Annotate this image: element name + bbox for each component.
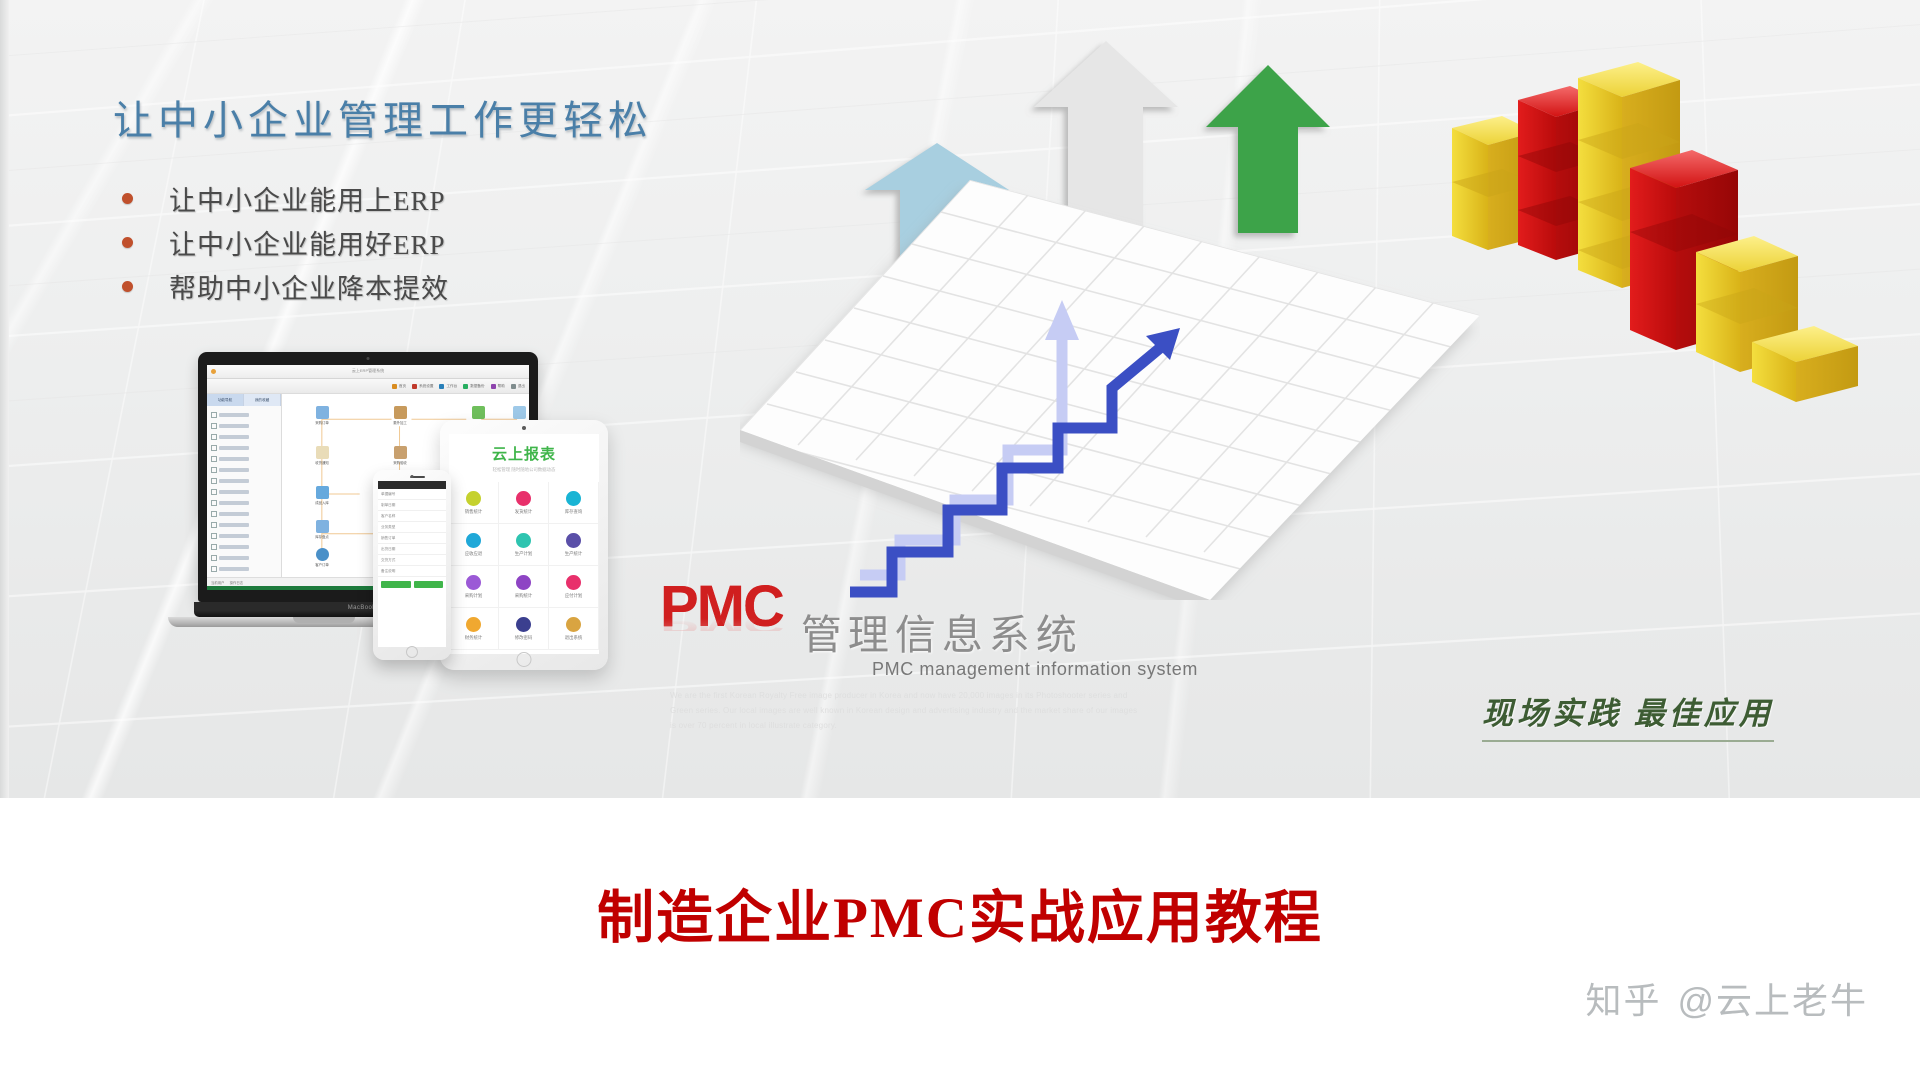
tree-node[interactable] [211,530,281,541]
tree-node[interactable] [211,475,281,486]
phone-mockup: 单据编号 制单日期 客户名称 业务类型 销售订单 出货日期 交货方式 备注说明 [373,470,451,660]
flow-node: 成品入库 [313,486,331,505]
pmc-logo-row: PMC PMC 管理信息系统 [660,580,1198,665]
pmc-fineprint: We are the first Korean Royalty Free ima… [670,688,1140,733]
tablet-tile[interactable]: 生产统计 [549,524,599,566]
phone-form-row[interactable]: 备注说明 [378,566,446,577]
tablet-tile[interactable]: 生产计划 [499,524,549,566]
foot-item: 操作日志 [230,580,244,585]
bullet-label: 让中小企业能用上ERP [169,179,446,218]
slide-left-edge [0,0,9,798]
pmc-logo-block: PMC PMC 管理信息系统 PMC management informatio… [660,580,1198,680]
tablet-tile[interactable]: 应收应退 [449,524,499,566]
bullet-label: 让中小企业能用好ERP [169,223,446,262]
list-item: 让中小企业能用好ERP [122,220,449,264]
tab-nav[interactable]: 功能导航 [207,394,244,406]
phone-home-button[interactable] [406,646,418,658]
page-title: 让中小企业管理工作更轻松 [113,88,653,146]
tagline: 现场实践 最佳应用 [1482,688,1774,742]
tablet-app-header: 云上报表 轻松管理 随时随地公司数据动态 [449,434,599,473]
tablet-app-subtitle: 轻松管理 随时随地公司数据动态 [449,467,599,473]
flow-node [510,406,528,420]
flow-node: 收货通知 [313,446,331,465]
phone-form-row[interactable]: 客户名称 [378,511,446,522]
phone-camera-icon [411,475,414,478]
erp-toolbar[interactable]: 首页 系统设置 工作台 数据备份 帮助 退出 [207,379,529,394]
phone-form-row[interactable]: 销售订单 [378,533,446,544]
slide-canvas: 让中小企业管理工作更轻松 让中小企业能用上ERP 让中小企业能用好ERP 帮助中… [0,0,1920,798]
phone-form-row[interactable]: 交货方式 [378,555,446,566]
tree-node[interactable] [211,552,281,563]
phone-screen: 单据编号 制单日期 客户名称 业务类型 销售订单 出货日期 交货方式 备注说明 [378,481,446,647]
save-button[interactable] [381,581,411,588]
phone-form-row[interactable]: 制单日期 [378,500,446,511]
tree-node[interactable] [211,431,281,442]
tablet-home-button[interactable] [517,652,532,667]
flow-node: 库存盘点 [313,520,331,539]
tablet-tile[interactable]: 销售统计 [449,482,499,524]
pmc-chinese-name: 管理信息系统 [801,601,1083,665]
laptop-camera-icon [367,357,370,360]
toolbar-item[interactable]: 首页 [392,384,406,389]
tablet-tile[interactable]: 发货统计 [499,482,549,524]
tree-node[interactable] [211,420,281,431]
flow-node: 采购验收 [391,446,409,465]
pmc-english-name: PMC management information system [872,659,1198,680]
tree-node[interactable] [211,442,281,453]
bullet-dot-icon [122,193,133,204]
tab-favorites[interactable]: 我的收藏 [244,394,281,406]
main-title: 制造企业PMC实战应用教程 [0,872,1920,954]
bullet-label: 帮助中小企业降本提效 [169,267,449,306]
phone-action-buttons[interactable] [378,577,446,592]
tree-node[interactable] [211,563,281,574]
zhihu-brand: 知乎 [1585,980,1661,1021]
tree-node[interactable] [211,409,281,420]
toolbar-item[interactable]: 帮助 [491,384,505,389]
tablet-tile-grid[interactable]: 销售统计 发货统计 库存查询 应收应退 生产计划 生产统计 采购计划 采购统计 … [449,482,599,650]
bar-chart-3d [1430,60,1890,410]
zhihu-watermark: 知乎@云上老牛 [1585,972,1868,1024]
cancel-button[interactable] [414,581,444,588]
tablet-app-name: 云上报表 [449,443,599,464]
tablet-tile[interactable]: 采购计划 [449,566,499,608]
flow-node: 客户订单 [313,548,331,567]
tablet-tile[interactable]: 修改密码 [499,608,549,650]
phone-app-bar [378,481,446,489]
erp-sidebar: 功能导航 我的收藏 [207,394,282,577]
erp-titlebar: 云上ERP管理系统 [207,365,529,379]
tablet-mockup: 云上报表 轻松管理 随时随地公司数据动态 销售统计 发货统计 库存查询 应收应退… [440,420,608,670]
foot-item: 当前用户 [211,580,225,585]
tree-node[interactable] [211,497,281,508]
phone-form-row[interactable]: 业务类型 [378,522,446,533]
toolbar-item[interactable]: 数据备份 [463,384,484,389]
tree-node[interactable] [211,464,281,475]
tablet-camera-icon [522,426,526,430]
toolbar-item[interactable]: 退出 [511,384,525,389]
toolbar-item[interactable]: 系统设置 [412,384,433,389]
tablet-tile[interactable]: 库存查询 [549,482,599,524]
tablet-screen: 云上报表 轻松管理 随时随地公司数据动态 销售统计 发货统计 库存查询 应收应退… [449,434,599,654]
toolbar-item[interactable]: 工作台 [439,384,457,389]
list-item: 让中小企业能用上ERP [122,176,449,220]
tree-node[interactable] [211,541,281,552]
flow-node: 委外加工 [391,406,409,425]
tree-node[interactable] [211,519,281,530]
phone-form-row[interactable]: 单据编号 [378,489,446,500]
bullet-dot-icon [122,237,133,248]
tablet-tile[interactable]: 采购统计 [499,566,549,608]
tree-node[interactable] [211,453,281,464]
list-item: 帮助中小企业降本提效 [122,264,449,308]
zhihu-user: @云上老牛 [1677,980,1868,1021]
tablet-tile[interactable]: 应付计划 [549,566,599,608]
tree-node[interactable] [211,508,281,519]
tree-node[interactable] [211,486,281,497]
bullet-list: 让中小企业能用上ERP 让中小企业能用好ERP 帮助中小企业降本提效 [122,176,449,308]
pmc-wordmark-reflection: PMC [660,615,783,631]
erp-window-title: 云上ERP管理系统 [352,368,384,374]
tablet-tile[interactable]: 财务统计 [449,608,499,650]
bullet-dot-icon [122,281,133,292]
phone-form-row[interactable]: 出货日期 [378,544,446,555]
grid-plane [740,180,1480,600]
erp-nav-tree[interactable] [207,406,281,574]
app-logo-icon [211,369,216,374]
laptop-notch [293,617,355,623]
erp-sidebar-tabs[interactable]: 功能导航 我的收藏 [207,394,281,406]
tablet-tile[interactable]: 退出系统 [549,608,599,650]
flow-node: 采购订单 [313,406,331,425]
